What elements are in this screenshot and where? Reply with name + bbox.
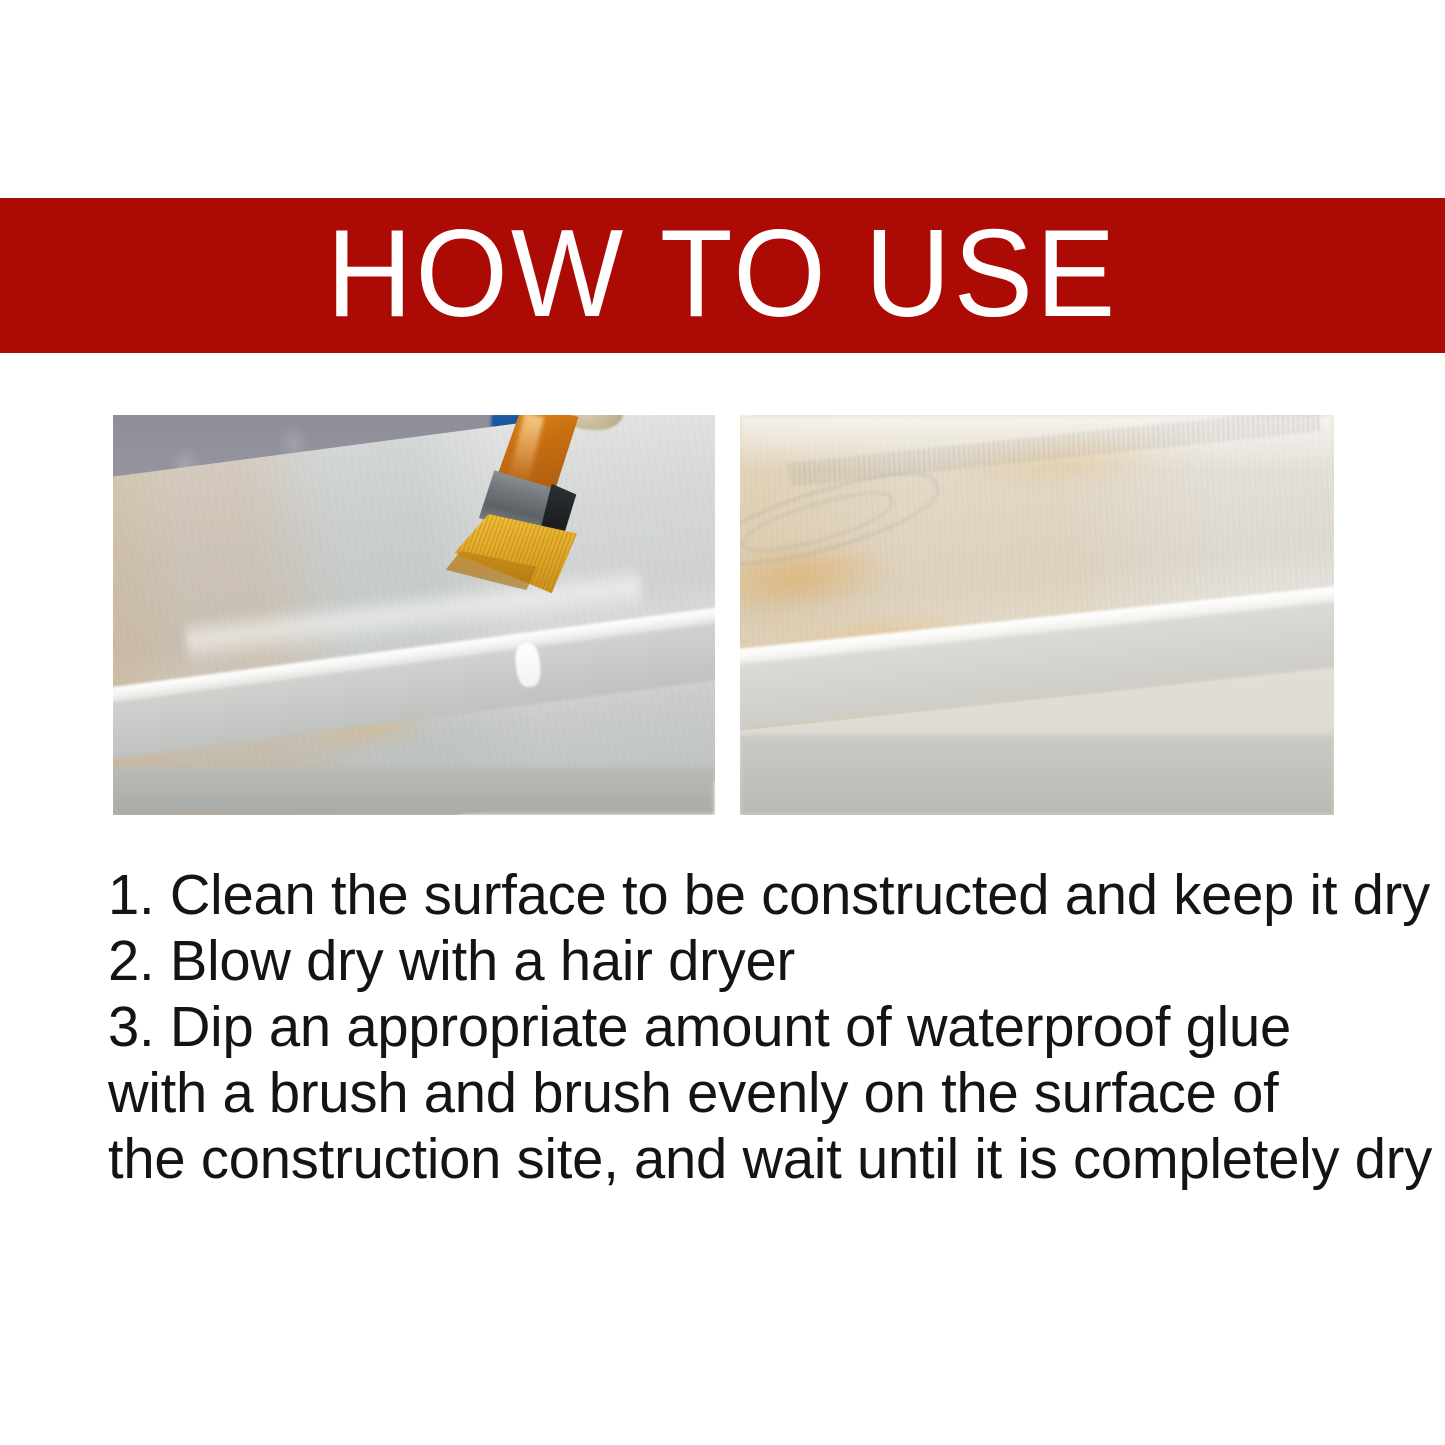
page-title: HOW TO USE <box>327 212 1119 340</box>
instruction-line-3: 3. Dip an appropriate amount of waterpro… <box>108 994 1389 1060</box>
floor-background <box>113 767 715 815</box>
instructions-list: 1. Clean the surface to be constructed a… <box>108 862 1408 1192</box>
how-to-use-banner: HOW TO USE <box>0 198 1445 353</box>
photo-row <box>113 415 1334 815</box>
instruction-line-1: 1. Clean the surface to be constructed a… <box>108 862 1389 928</box>
instruction-line-4: with a brush and brush evenly on the sur… <box>108 1060 1389 1126</box>
photo-dried-coated-board-closeup <box>740 415 1334 815</box>
instruction-line-2: 2. Blow dry with a hair dryer <box>108 928 1389 994</box>
instruction-line-5: the construction site, and wait until it… <box>108 1126 1389 1192</box>
paint-brush <box>426 415 631 639</box>
background-below-board <box>740 735 1334 815</box>
photo-applying-waterproof-glue-with-brush <box>113 415 715 815</box>
